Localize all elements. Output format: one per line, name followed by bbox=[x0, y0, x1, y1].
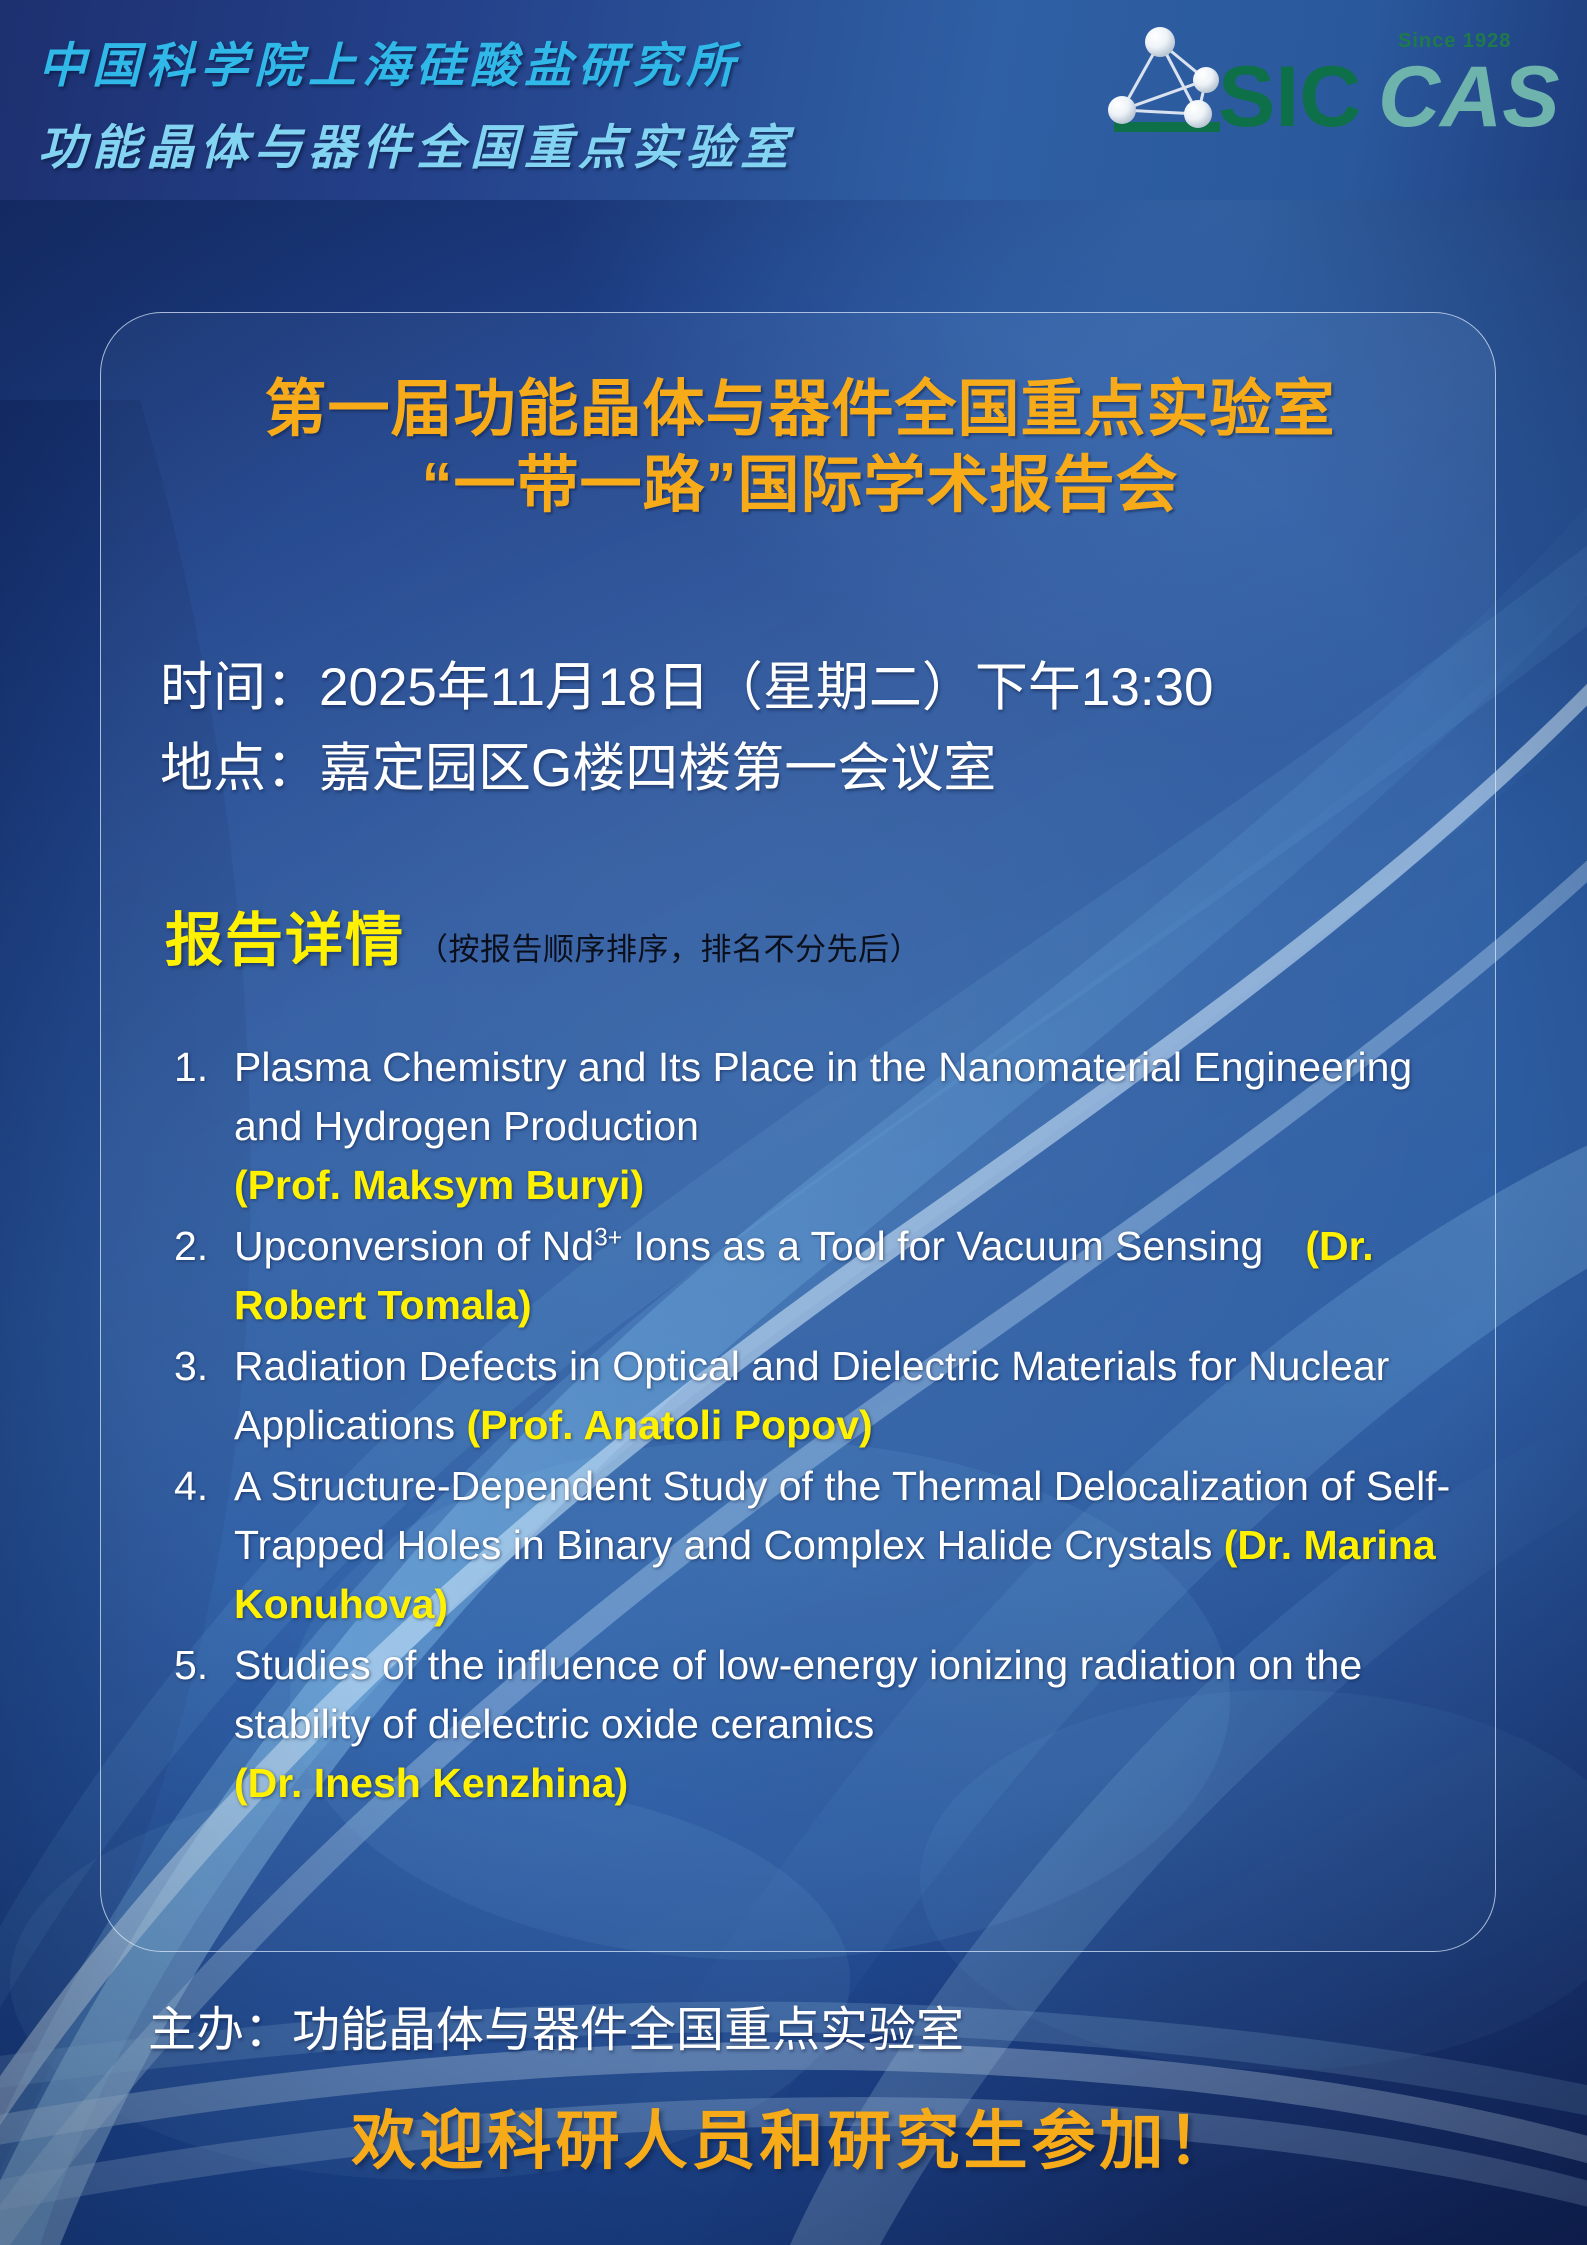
event-title-line1: 第一届功能晶体与器件全国重点实验室 bbox=[120, 372, 1480, 448]
talk-title-superscript: 3+ bbox=[594, 1224, 622, 1251]
talk-title: Plasma Chemistry and Its Place in the Na… bbox=[234, 1044, 1412, 1149]
talk-item: 4.A Structure-Dependent Study of the The… bbox=[160, 1457, 1460, 1634]
talk-item: 3.Radiation Defects in Optical and Diele… bbox=[160, 1337, 1460, 1455]
talk-number: 4. bbox=[160, 1457, 234, 1516]
siccas-logo: SIC CAS Since 1928 bbox=[1100, 14, 1570, 134]
event-time: 时间：2025年11月18日（星期二）下午13:30 bbox=[160, 648, 1460, 729]
talk-item: 1.Plasma Chemistry and Its Place in the … bbox=[160, 1038, 1460, 1215]
talk-body: Plasma Chemistry and Its Place in the Na… bbox=[234, 1038, 1460, 1215]
logo-cas-text: CAS bbox=[1378, 49, 1560, 134]
talk-number: 1. bbox=[160, 1038, 234, 1097]
talk-body: Studies of the influence of low-energy i… bbox=[234, 1636, 1460, 1813]
event-location: 地点：嘉定园区G楼四楼第一会议室 bbox=[160, 729, 1460, 810]
poster-root: 中国科学院上海硅酸盐研究所 功能晶体与器件全国重点实验室 bbox=[0, 0, 1587, 2245]
talk-title: Studies of the influence of low-energy i… bbox=[234, 1642, 1362, 1747]
talks-section-note: （按报告顺序排序，排名不分先后） bbox=[417, 924, 921, 969]
talk-item: 5.Studies of the influence of low-energy… bbox=[160, 1636, 1460, 1813]
event-meta: 时间：2025年11月18日（星期二）下午13:30 地点：嘉定园区G楼四楼第一… bbox=[160, 648, 1460, 809]
event-title-line2: “一带一路”国际学术报告会 bbox=[120, 448, 1480, 524]
header-band: 中国科学院上海硅酸盐研究所 功能晶体与器件全国重点实验室 bbox=[0, 0, 1587, 200]
logo-sic-text: SIC bbox=[1218, 49, 1361, 134]
talks-section-title: 报告详情 bbox=[165, 893, 405, 977]
talk-title: Upconversion of Nd bbox=[234, 1223, 594, 1269]
talk-body: Radiation Defects in Optical and Dielect… bbox=[234, 1337, 1460, 1455]
logo-since-text: Since 1928 bbox=[1398, 30, 1511, 52]
talks-list: 1.Plasma Chemistry and Its Place in the … bbox=[160, 1038, 1460, 1815]
talk-speaker: (Dr. Inesh Kenzhina) bbox=[234, 1760, 628, 1806]
welcome-line: 欢迎科研人员和研究生参加！ bbox=[0, 2090, 1587, 2182]
talk-number: 2. bbox=[160, 1217, 234, 1276]
talk-number: 5. bbox=[160, 1636, 234, 1695]
talk-body: A Structure-Dependent Study of the Therm… bbox=[234, 1457, 1460, 1634]
talk-item: 2.Upconversion of Nd3+ Ions as a Tool fo… bbox=[160, 1217, 1460, 1335]
talk-speaker: (Prof. Maksym Buryi) bbox=[234, 1162, 644, 1208]
event-title: 第一届功能晶体与器件全国重点实验室 “一带一路”国际学术报告会 bbox=[120, 372, 1480, 525]
talk-speaker: (Prof. Anatoli Popov) bbox=[466, 1402, 872, 1448]
talk-title-cont: Ions as a Tool for Vacuum Sensing bbox=[622, 1223, 1263, 1269]
institute-name-line1: 中国科学院上海硅酸盐研究所 bbox=[38, 26, 740, 96]
lab-name-line2: 功能晶体与器件全国重点实验室 bbox=[38, 108, 794, 178]
talks-section-heading: 报告详情 （按报告顺序排序，排名不分先后） bbox=[165, 893, 921, 977]
talk-body: Upconversion of Nd3+ Ions as a Tool for … bbox=[234, 1217, 1460, 1335]
host-line: 主办：功能晶体与器件全国重点实验室 bbox=[148, 1990, 964, 2060]
talk-number: 3. bbox=[160, 1337, 234, 1396]
